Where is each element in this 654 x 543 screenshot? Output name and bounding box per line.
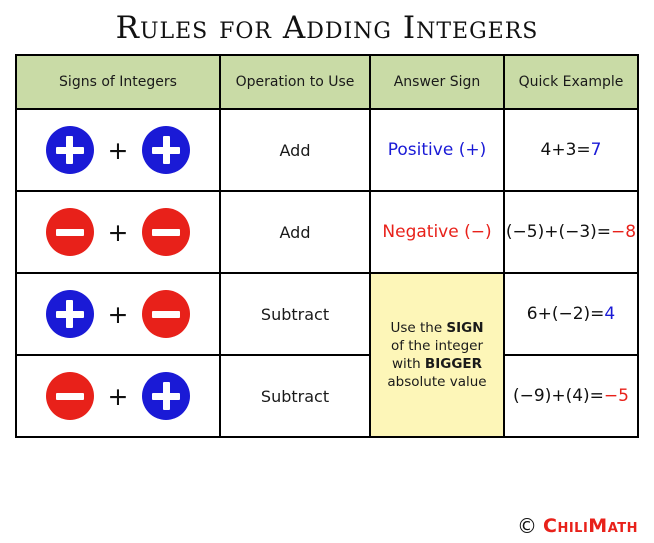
answer-sign-cell: Positive (+) xyxy=(370,109,504,191)
table-row: + Subtract (−9)+(4)=−5 xyxy=(16,355,638,437)
minus-coin-icon xyxy=(142,208,190,256)
example-expression: (−9)+(4)= xyxy=(513,386,604,406)
plus-coin-icon xyxy=(142,126,190,174)
minus-coin-icon xyxy=(46,208,94,256)
signs-cell: + xyxy=(16,191,220,273)
table-row: + Subtract Use the SIGN of the integer w… xyxy=(16,273,638,355)
plus-operator-label: + xyxy=(108,138,129,163)
example-answer: −8 xyxy=(611,222,636,242)
operation-cell: Add xyxy=(220,191,370,273)
example-answer: 4 xyxy=(604,304,615,324)
minus-coin-icon xyxy=(46,372,94,420)
plus-coin-icon xyxy=(46,126,94,174)
column-header-answer-sign: Answer Sign xyxy=(370,55,504,109)
plus-coin-icon xyxy=(142,372,190,420)
merged-answer-sign-note: Use the SIGN of the integer with BIGGER … xyxy=(370,273,504,437)
example-expression: 4+3= xyxy=(541,140,591,160)
operation-cell: Subtract xyxy=(220,355,370,437)
note-line2: of the integer xyxy=(391,338,483,354)
note-line1-pre: Use the xyxy=(390,320,446,336)
rules-table: Signs of Integers Operation to Use Answe… xyxy=(15,54,639,438)
table-header-row: Signs of Integers Operation to Use Answe… xyxy=(16,55,638,109)
table-row: + Add Positive (+) 4+3=7 xyxy=(16,109,638,191)
example-answer: 7 xyxy=(591,140,602,160)
operation-cell: Subtract xyxy=(220,273,370,355)
minus-coin-icon xyxy=(142,290,190,338)
plus-operator-label: + xyxy=(108,302,129,327)
answer-sign-cell: Negative (−) xyxy=(370,191,504,273)
operation-cell: Add xyxy=(220,109,370,191)
note-line1-bold: SIGN xyxy=(446,320,483,336)
column-header-signs: Signs of Integers xyxy=(16,55,220,109)
column-header-operation: Operation to Use xyxy=(220,55,370,109)
table-row: + Add Negative (−) (−5)+(−3)=−8 xyxy=(16,191,638,273)
example-expression: 6+(−2)= xyxy=(527,304,605,324)
example-cell: 6+(−2)=4 xyxy=(504,273,638,355)
answer-sign-label: Negative (−) xyxy=(382,222,491,242)
example-expression: (−5)+(−3)= xyxy=(506,222,611,242)
plus-operator-label: + xyxy=(108,384,129,409)
copyright-icon: © xyxy=(517,516,537,536)
signs-cell: + xyxy=(16,355,220,437)
note-line4: absolute value xyxy=(387,374,486,390)
signs-cell: + xyxy=(16,109,220,191)
example-cell: 4+3=7 xyxy=(504,109,638,191)
example-answer: −5 xyxy=(604,386,629,406)
page-title: Rules for Adding Integers xyxy=(0,10,654,46)
example-cell: (−9)+(4)=−5 xyxy=(504,355,638,437)
plus-operator-label: + xyxy=(108,220,129,245)
answer-sign-label: Positive (+) xyxy=(388,140,486,160)
brand-label: ChiliMath xyxy=(543,515,638,537)
footer-attribution: © ChiliMath xyxy=(517,515,638,537)
note-line3-bold: BIGGER xyxy=(425,356,482,372)
column-header-example: Quick Example xyxy=(504,55,638,109)
signs-cell: + xyxy=(16,273,220,355)
note-line3-pre: with xyxy=(392,356,425,372)
plus-coin-icon xyxy=(46,290,94,338)
example-cell: (−5)+(−3)=−8 xyxy=(504,191,638,273)
